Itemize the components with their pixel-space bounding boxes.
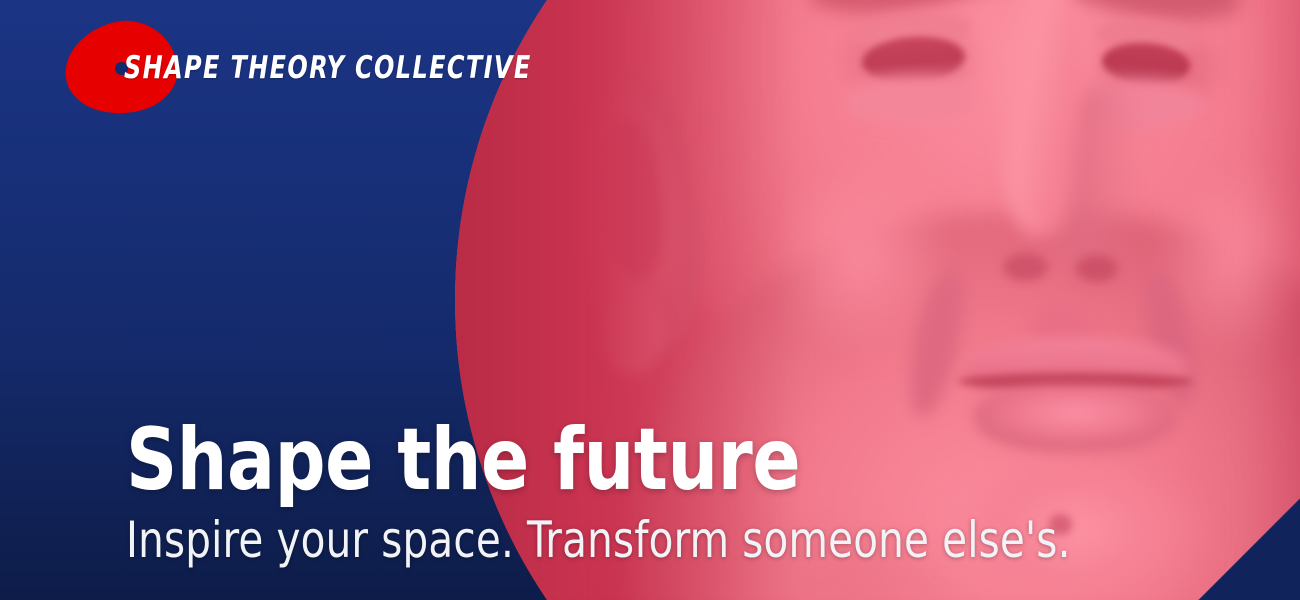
hero-copy: Shape the future Inspire your space. Tra…: [126, 420, 1226, 566]
portrait-nose-tip: [995, 182, 1129, 300]
hero-banner: SHAPE THEORY COLLECTIVE Shape the future…: [0, 0, 1300, 600]
hero-subheadline: Inspire your space. Transform someone el…: [126, 514, 1116, 567]
hero-headline: Shape the future: [126, 420, 1138, 502]
brand-logo[interactable]: SHAPE THEORY COLLECTIVE: [60, 18, 598, 118]
portrait-undereye-left: [846, 77, 980, 124]
brand-name: SHAPE THEORY COLLECTIVE: [124, 50, 532, 86]
portrait-nostril-left: [1003, 253, 1048, 281]
portrait-rim-shadow-right: [1247, 0, 1300, 600]
portrait-nostril-right: [1076, 255, 1119, 282]
